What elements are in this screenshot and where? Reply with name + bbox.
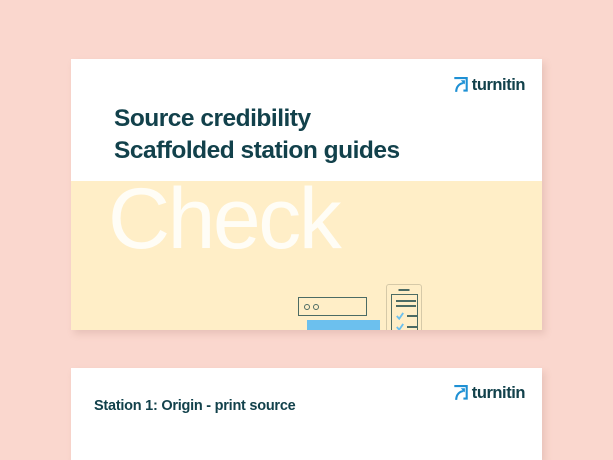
phone-text-line: [407, 315, 417, 317]
turnitin-logo-mark: [453, 77, 468, 93]
phone-text-line: [396, 300, 416, 302]
turnitin-wordmark: turnitin: [472, 385, 525, 402]
phone-checklist-row: [396, 323, 417, 330]
slide-one-accent-band: Check: [71, 181, 542, 330]
station-title: Station 1: Origin - print source: [94, 398, 295, 414]
turnitin-wordmark-text: turnitin: [472, 384, 525, 402]
slide-card-station-1[interactable]: Station 1: Origin - print source turniti…: [71, 368, 542, 460]
checkmark-icon: [396, 323, 404, 330]
phone-illustration: [386, 284, 422, 330]
slide-card-title[interactable]: Source credibility Scaffolded station gu…: [71, 59, 542, 330]
turnitin-logo-mark: [453, 385, 468, 401]
turnitin-logo: turnitin: [453, 77, 525, 94]
book-middle: [307, 320, 380, 330]
turnitin-logo: turnitin: [453, 385, 525, 402]
book-dots-icon: [304, 304, 319, 310]
checkmark-icon: [396, 312, 404, 320]
turnitin-wordmark: turnitin: [472, 77, 525, 94]
phone-text-line: [396, 305, 416, 307]
phone-checklist-row: [396, 312, 417, 320]
book-dot-icon: [313, 304, 319, 310]
book-dot-icon: [304, 304, 310, 310]
phone-speaker: [399, 289, 410, 291]
book-top: [298, 297, 367, 316]
page-title: Source credibility Scaffolded station gu…: [114, 103, 400, 166]
phone-screen: [391, 294, 418, 330]
phone-text-line: [407, 326, 417, 328]
band-heading: Check: [108, 181, 339, 262]
turnitin-wordmark-text: turnitin: [472, 76, 525, 94]
